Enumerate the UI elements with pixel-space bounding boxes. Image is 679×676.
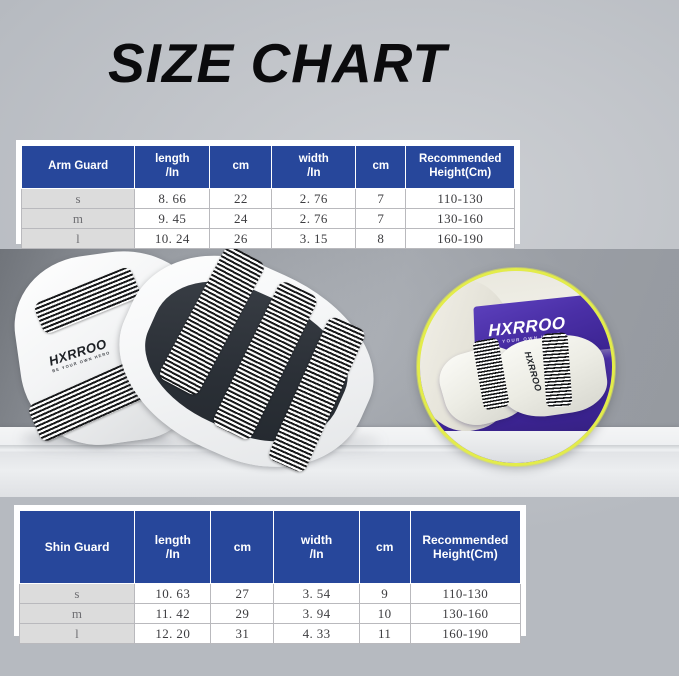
cell-width-cm: 8 [356, 229, 406, 249]
page-title: SIZE CHART [108, 36, 447, 91]
shin-guard-table: Shin Guard length /In cm width /In cm [19, 510, 521, 644]
shin-guard-table-frame: Shin Guard length /In cm width /In cm [14, 505, 526, 636]
cell-size: s [20, 584, 135, 604]
cell-height: 110-130 [410, 584, 520, 604]
cell-width-in: 4. 33 [274, 624, 359, 644]
table-header-row: Shin Guard length /In cm width /In cm [20, 511, 521, 584]
cell-width-cm: 7 [356, 209, 406, 229]
cell-width-cm: 11 [359, 624, 410, 644]
col-header-width-in: width /In [274, 511, 359, 584]
cell-width-cm: 7 [356, 189, 406, 209]
cell-length-cm: 31 [211, 624, 274, 644]
cell-length-in: 10. 63 [135, 584, 211, 604]
inset-shelf-surface [417, 431, 615, 465]
table-row: l 10. 24 26 3. 15 8 160-190 [22, 229, 515, 249]
cell-width-cm: 10 [359, 604, 410, 624]
col-header-width-cm: cm [359, 511, 410, 584]
cell-width-in: 3. 54 [274, 584, 359, 604]
col-header-length-cm: cm [210, 146, 272, 189]
cell-size: l [20, 624, 135, 644]
cell-height: 160-190 [406, 229, 515, 249]
cell-length-in: 8. 66 [135, 189, 210, 209]
table-row: m 9. 45 24 2. 76 7 130-160 [22, 209, 515, 229]
col-header-length-cm: cm [211, 511, 274, 584]
col-header-arm-guard: Arm Guard [22, 146, 135, 189]
cell-length-in: 10. 24 [135, 229, 210, 249]
table-row: s 8. 66 22 2. 76 7 110-130 [22, 189, 515, 209]
cell-width-in: 3. 15 [272, 229, 356, 249]
lifestyle-inset-photo: HXRROO BE YOUR OWN HERO HXRROO [417, 268, 615, 466]
product-photo-band: HXRROO BE YOUR OWN HERO HXRROO BE YOUR O… [0, 249, 679, 497]
table-row: l 12. 20 31 4. 33 11 160-190 [20, 624, 521, 644]
col-header-length-in: length /In [135, 511, 211, 584]
cell-width-in: 2. 76 [272, 189, 356, 209]
table-row: m 11. 42 29 3. 94 10 130-160 [20, 604, 521, 624]
col-header-width-cm: cm [356, 146, 406, 189]
table-header-row: Arm Guard length /In cm width /In cm [22, 146, 515, 189]
col-header-width-in: width /In [272, 146, 356, 189]
cell-length-cm: 27 [211, 584, 274, 604]
cell-length-cm: 29 [211, 604, 274, 624]
table-row: s 10. 63 27 3. 54 9 110-130 [20, 584, 521, 604]
cell-length-in: 9. 45 [135, 209, 210, 229]
cell-size: m [22, 209, 135, 229]
cell-size: l [22, 229, 135, 249]
inset-guard-strap [541, 332, 572, 408]
arm-guard-table-frame: Arm Guard length /In cm width /In cm [16, 140, 520, 244]
cell-length-cm: 24 [210, 209, 272, 229]
cell-width-cm: 9 [359, 584, 410, 604]
cell-length-cm: 26 [210, 229, 272, 249]
cell-width-in: 2. 76 [272, 209, 356, 229]
cell-height: 130-160 [406, 209, 515, 229]
col-header-recommended-height: Recommended Height(Cm) [410, 511, 520, 584]
arm-guard-table: Arm Guard length /In cm width /In cm [21, 145, 515, 249]
col-header-length-in: length /In [135, 146, 210, 189]
cell-length-in: 12. 20 [135, 624, 211, 644]
cell-length-in: 11. 42 [135, 604, 211, 624]
col-header-shin-guard: Shin Guard [20, 511, 135, 584]
col-header-recommended-height: Recommended Height(Cm) [406, 146, 515, 189]
cell-size: s [22, 189, 135, 209]
cell-height: 130-160 [410, 604, 520, 624]
cell-size: m [20, 604, 135, 624]
cell-height: 160-190 [410, 624, 520, 644]
size-chart-page: SIZE CHART Arm Guard length /In cm [0, 0, 679, 676]
title-band: SIZE CHART [0, 0, 679, 128]
cell-width-in: 3. 94 [274, 604, 359, 624]
cell-length-cm: 22 [210, 189, 272, 209]
cell-height: 110-130 [406, 189, 515, 209]
